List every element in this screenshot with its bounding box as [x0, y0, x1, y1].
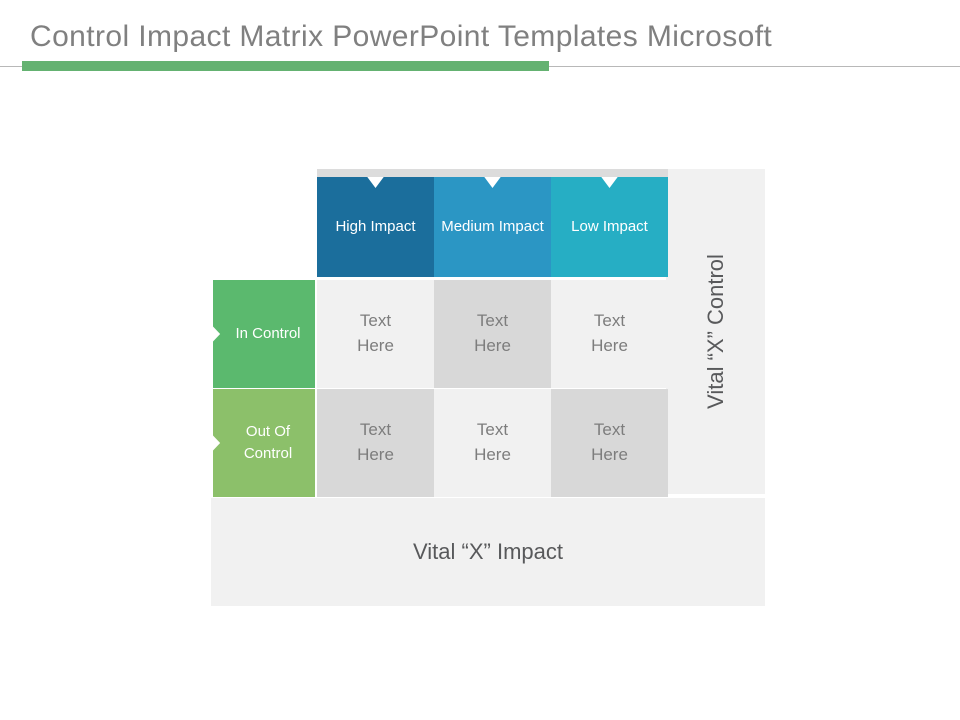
row-header-in-control[interactable]: In Control: [213, 280, 315, 388]
matrix-cell[interactable]: Text Here: [317, 280, 434, 388]
horizontal-axis-label: Vital “X” Impact: [413, 539, 563, 565]
matrix-cell[interactable]: Text Here: [434, 280, 551, 388]
matrix-cell[interactable]: Text Here: [551, 389, 668, 497]
column-header-medium-impact[interactable]: Medium Impact: [434, 169, 551, 277]
column-cap-band-low: [551, 169, 668, 177]
column-header-label-medium: Medium Impact: [434, 177, 551, 277]
control-impact-matrix: Vital “X” Control Vital “X” Impact High …: [0, 0, 960, 720]
column-header-low-impact[interactable]: Low Impact: [551, 169, 668, 277]
horizontal-axis-panel: Vital “X” Impact: [211, 498, 765, 606]
column-header-label-high: High Impact: [317, 177, 434, 277]
matrix-cell[interactable]: Text Here: [434, 389, 551, 497]
column-cap-band-high: [317, 169, 434, 177]
column-header-high-impact[interactable]: High Impact: [317, 169, 434, 277]
matrix-cell[interactable]: Text Here: [317, 389, 434, 497]
matrix-cell[interactable]: Text Here: [551, 280, 668, 388]
vertical-axis-panel: Vital “X” Control: [666, 169, 765, 494]
column-header-label-low: Low Impact: [551, 177, 668, 277]
vertical-axis-label: Vital “X” Control: [666, 169, 765, 494]
column-cap-band-medium: [434, 169, 551, 177]
row-header-out-of-control[interactable]: Out Of Control: [213, 389, 315, 497]
